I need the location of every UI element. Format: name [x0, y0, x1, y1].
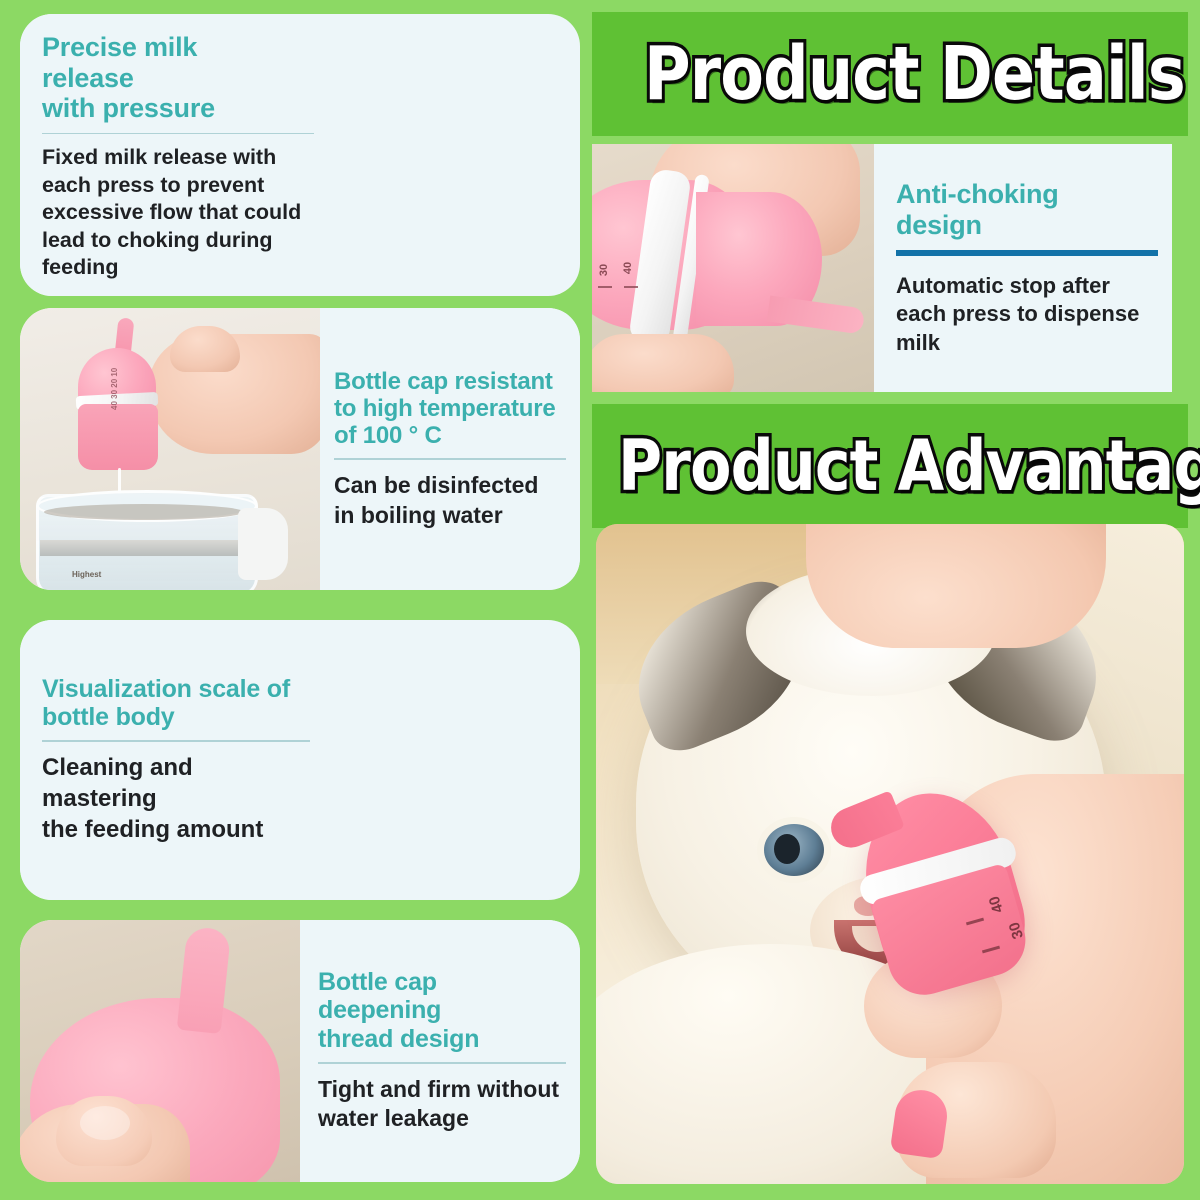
card-text-precise-milk-release: Precise milk release with pressure Fixed…: [20, 14, 320, 296]
bottle-scale-mark-30: 30: [598, 264, 610, 276]
heading-divider: [42, 133, 314, 134]
heading-divider: [42, 740, 310, 742]
heading-divider: [318, 1062, 566, 1064]
banner-product-details: Product Details: [592, 12, 1188, 136]
photo-hand-squeezing-bottle: 30 40: [592, 144, 874, 392]
card-precise-milk-release: Precise milk release with pressure Fixed…: [20, 14, 580, 296]
card-heading-bottle-cap-heat-resistant: Bottle cap resistant to high temperature…: [334, 368, 564, 449]
banner-product-advantages-label: Product Advantages: [618, 431, 1200, 501]
card-heading-anti-choking-design: Anti-choking design: [896, 179, 1160, 240]
banner-product-details-label: Product Details: [644, 37, 1185, 111]
bottle-scale-mark-40: 40: [622, 262, 634, 274]
hero-kitten-photo: 40 30: [596, 524, 1184, 1184]
card-visualization-scale: Visualization scale of bottle body Clean…: [20, 620, 580, 900]
card-body-precise-milk-release: Fixed milk release with each press to pr…: [42, 144, 304, 282]
card-body-bottle-cap-heat-resistant: Can be disinfected in boiling water: [334, 471, 564, 530]
kettle-label: Highest: [72, 570, 132, 584]
heading-divider-accent: [896, 250, 1158, 256]
heading-divider: [334, 458, 566, 460]
card-text-bottle-cap-heat-resistant: Bottle cap resistant to high temperature…: [320, 308, 580, 590]
card-body-visualization-scale: Cleaning and mastering the feeding amoun…: [42, 753, 304, 845]
card-bottle-cap-heat-resistant: 40 30 20 10 Highest Bottle cap resistant…: [20, 308, 580, 590]
infographic-page: Precise milk release with pressure Fixed…: [0, 0, 1200, 1200]
card-anti-choking-design: 30 40 Anti-choking design Automatic stop…: [592, 144, 1172, 392]
card-text-anti-choking-design: Anti-choking design Automatic stop after…: [874, 144, 1172, 392]
card-heading-bottle-cap-deepening-thread: Bottle cap deepening thread design: [318, 968, 566, 1053]
card-text-visualization-scale: Visualization scale of bottle body Clean…: [20, 620, 320, 900]
card-heading-visualization-scale: Visualization scale of bottle body: [42, 675, 304, 732]
bottle-scale-marks: 40 30 20 10: [110, 368, 121, 410]
card-bottle-cap-deepening-thread: Bottle cap deepening thread design Tight…: [20, 920, 580, 1182]
card-text-bottle-cap-deepening-thread: Bottle cap deepening thread design Tight…: [300, 920, 580, 1182]
card-body-anti-choking-design: Automatic stop after each press to dispe…: [896, 272, 1160, 356]
card-heading-precise-milk-release: Precise milk release with pressure: [42, 32, 304, 124]
card-body-bottle-cap-deepening-thread: Tight and firm without water leakage: [318, 1075, 566, 1134]
photo-boiling-kettle: 40 30 20 10 Highest: [20, 308, 320, 590]
photo-finger-pressing-bottle: [20, 920, 300, 1182]
banner-product-advantages: Product Advantages: [592, 404, 1188, 528]
